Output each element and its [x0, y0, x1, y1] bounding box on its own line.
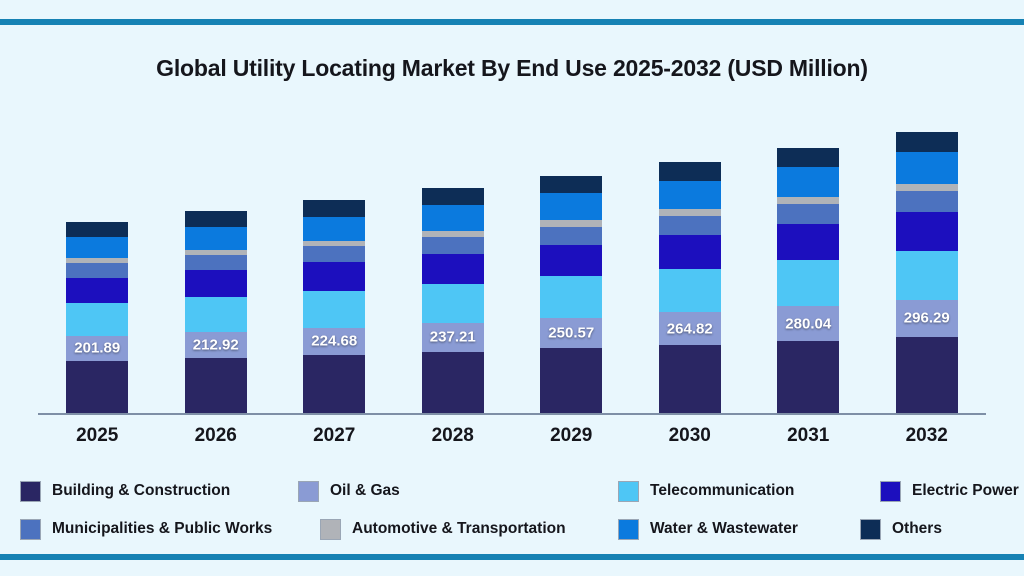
x-tick-2028: 2028	[394, 425, 513, 447]
bar-segment[interactable]	[540, 227, 602, 245]
legend-swatch-icon	[618, 519, 639, 540]
legend-row: Building & ConstructionOil & GasTelecomm…	[20, 472, 1010, 510]
bar-segment[interactable]	[185, 297, 247, 332]
bar-segment[interactable]: 212.92	[185, 332, 247, 358]
legend-item[interactable]: Municipalities & Public Works	[20, 519, 272, 540]
x-tick-2026: 2026	[157, 425, 276, 447]
x-tick-2025: 2025	[38, 425, 157, 447]
legend-label: Building & Construction	[52, 482, 230, 500]
x-tick-2031: 2031	[749, 425, 868, 447]
bar-segment[interactable]	[303, 246, 365, 262]
legend-item[interactable]: Others	[860, 519, 942, 540]
legend-item[interactable]: Electric Power	[880, 481, 1019, 502]
legend-label: Others	[892, 520, 942, 538]
bar-segment[interactable]	[540, 245, 602, 277]
legend-item[interactable]: Building & Construction	[20, 481, 230, 502]
legend-item[interactable]: Oil & Gas	[298, 481, 400, 502]
bar-segment[interactable]	[66, 222, 128, 237]
stacked-bar-2029[interactable]: 250.57	[540, 176, 602, 413]
legend-label: Oil & Gas	[330, 482, 400, 500]
bar-segment[interactable]	[422, 188, 484, 205]
bar-segment[interactable]	[422, 231, 484, 237]
bar-segment[interactable]	[659, 181, 721, 210]
bar-value-label: 280.04	[785, 315, 831, 332]
bar-segment[interactable]	[422, 237, 484, 254]
bar-segment[interactable]: 264.82	[659, 312, 721, 344]
bar-segment[interactable]: 224.68	[303, 328, 365, 355]
x-tick-2027: 2027	[275, 425, 394, 447]
legend-item[interactable]: Automotive & Transportation	[320, 519, 566, 540]
legend-label: Electric Power	[912, 482, 1019, 500]
bar-value-label: 237.21	[430, 329, 476, 346]
bar-segment[interactable]	[659, 235, 721, 269]
bar-segment[interactable]	[422, 352, 484, 413]
bar-segment[interactable]	[777, 148, 839, 167]
stacked-bars-container: 201.89212.92224.68237.21250.57264.82280.…	[38, 110, 986, 413]
bar-segment[interactable]	[777, 204, 839, 224]
bar-group-2027: 224.68	[275, 110, 394, 413]
bar-segment[interactable]	[540, 193, 602, 220]
bar-value-label: 201.89	[74, 340, 120, 357]
bar-segment[interactable]	[896, 152, 958, 184]
bar-segment[interactable]	[540, 276, 602, 317]
legend-swatch-icon	[20, 519, 41, 540]
bar-segment[interactable]	[66, 361, 128, 413]
bar-segment[interactable]	[540, 220, 602, 226]
bar-segment[interactable]: 296.29	[896, 300, 958, 337]
x-axis-line	[38, 413, 986, 415]
bar-segment[interactable]	[659, 269, 721, 313]
chart-plot-area: 201.89212.92224.68237.21250.57264.82280.…	[38, 110, 986, 415]
legend-row: Municipalities & Public WorksAutomotive …	[20, 510, 1010, 548]
bar-segment[interactable]	[659, 345, 721, 413]
bottom-accent-line	[0, 554, 1024, 560]
bar-segment[interactable]	[777, 224, 839, 260]
legend-swatch-icon	[20, 481, 41, 502]
bar-segment[interactable]	[896, 337, 958, 413]
bar-segment[interactable]	[185, 250, 247, 255]
chart-legend: Building & ConstructionOil & GasTelecomm…	[20, 472, 1010, 548]
bar-segment[interactable]	[66, 263, 128, 278]
stacked-bar-2031[interactable]: 280.04	[777, 148, 839, 413]
legend-swatch-icon	[860, 519, 881, 540]
bar-segment[interactable]	[659, 162, 721, 180]
bar-group-2031: 280.04	[749, 110, 868, 413]
bar-segment[interactable]	[659, 216, 721, 235]
bar-segment[interactable]	[185, 211, 247, 227]
legend-swatch-icon	[298, 481, 319, 502]
legend-label: Municipalities & Public Works	[52, 520, 272, 538]
stacked-bar-2027[interactable]: 224.68	[303, 200, 365, 413]
bar-group-2025: 201.89	[38, 110, 157, 413]
bar-segment[interactable]	[659, 209, 721, 215]
bar-segment[interactable]	[66, 303, 128, 336]
x-tick-2029: 2029	[512, 425, 631, 447]
legend-label: Telecommunication	[650, 482, 794, 500]
bar-segment[interactable]	[185, 270, 247, 297]
bar-segment[interactable]	[896, 132, 958, 151]
bar-value-label: 212.92	[193, 336, 239, 353]
bar-segment[interactable]	[777, 197, 839, 204]
bar-value-label: 296.29	[904, 310, 950, 327]
bar-segment[interactable]: 280.04	[777, 306, 839, 340]
bar-segment[interactable]	[896, 191, 958, 212]
bar-segment[interactable]	[66, 258, 128, 263]
legend-item[interactable]: Water & Wastewater	[618, 519, 798, 540]
bar-segment[interactable]	[777, 341, 839, 413]
bar-segment[interactable]	[422, 254, 484, 284]
bar-segment[interactable]	[185, 227, 247, 250]
stacked-bar-2032[interactable]: 296.29	[896, 132, 958, 413]
legend-label: Automotive & Transportation	[352, 520, 566, 538]
bar-segment[interactable]	[896, 184, 958, 191]
top-accent-line	[0, 19, 1024, 25]
stacked-bar-2028[interactable]: 237.21	[422, 188, 484, 413]
bar-group-2032: 296.29	[868, 110, 987, 413]
legend-item[interactable]: Telecommunication	[618, 481, 794, 502]
legend-label: Water & Wastewater	[650, 520, 798, 538]
bar-segment[interactable]	[303, 217, 365, 241]
x-tick-2030: 2030	[631, 425, 750, 447]
bar-group-2030: 264.82	[631, 110, 750, 413]
bar-segment[interactable]	[185, 358, 247, 413]
bar-group-2026: 212.92	[157, 110, 276, 413]
bar-value-label: 224.68	[311, 333, 357, 350]
bar-segment[interactable]	[777, 167, 839, 197]
x-axis-tick-labels: 20252026202720282029203020312032	[38, 425, 986, 447]
stacked-bar-2025[interactable]: 201.89	[66, 222, 128, 413]
stacked-bar-2026[interactable]: 212.92	[185, 211, 247, 413]
bar-group-2029: 250.57	[512, 110, 631, 413]
bar-segment[interactable]	[540, 176, 602, 194]
bar-segment[interactable]	[422, 284, 484, 323]
bar-segment[interactable]: 250.57	[540, 318, 602, 349]
bar-segment[interactable]	[66, 278, 128, 304]
bar-value-label: 250.57	[548, 325, 594, 342]
bar-segment[interactable]	[896, 251, 958, 301]
bar-group-2028: 237.21	[394, 110, 513, 413]
stacked-bar-2030[interactable]: 264.82	[659, 162, 721, 413]
bar-segment[interactable]	[777, 260, 839, 307]
bar-value-label: 264.82	[667, 320, 713, 337]
bar-segment[interactable]	[422, 205, 484, 231]
bar-segment[interactable]	[303, 241, 365, 246]
bar-segment[interactable]	[540, 348, 602, 413]
bar-segment[interactable]: 201.89	[66, 336, 128, 360]
legend-swatch-icon	[320, 519, 341, 540]
bar-segment[interactable]	[185, 255, 247, 270]
bar-segment[interactable]	[303, 262, 365, 291]
bar-segment[interactable]: 237.21	[422, 323, 484, 352]
bar-segment[interactable]	[303, 355, 365, 413]
bar-segment[interactable]	[896, 212, 958, 250]
bar-segment[interactable]	[66, 237, 128, 259]
x-tick-2032: 2032	[868, 425, 987, 447]
bar-segment[interactable]	[303, 200, 365, 216]
legend-swatch-icon	[618, 481, 639, 502]
legend-swatch-icon	[880, 481, 901, 502]
bar-segment[interactable]	[303, 291, 365, 328]
page-title: Global Utility Locating Market By End Us…	[0, 55, 1024, 82]
